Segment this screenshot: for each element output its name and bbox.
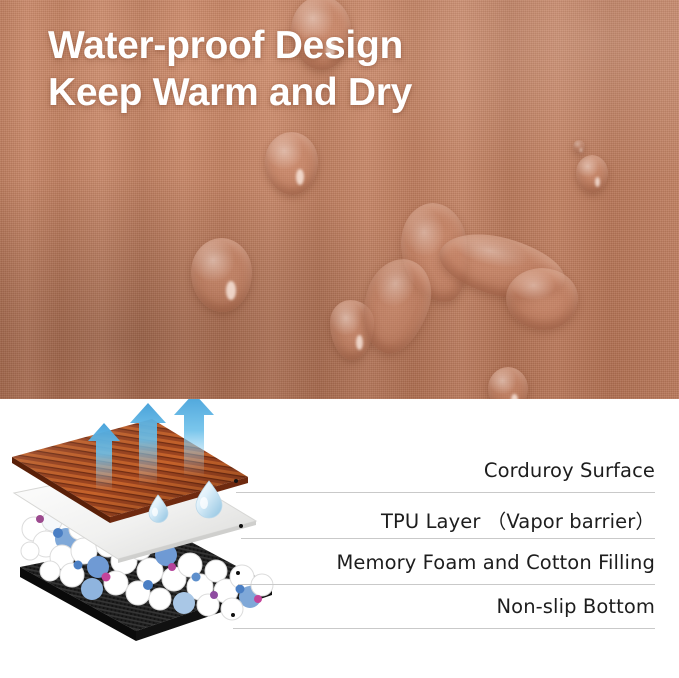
layer-callouts: Corduroy Surface TPU Layer （Vapor barrie… (0, 399, 679, 678)
water-bead (573, 140, 585, 154)
layer-construction-panel: Corduroy Surface TPU Layer （Vapor barrie… (0, 399, 679, 678)
hero-headline: Water-proof Design Keep Warm and Dry (48, 22, 412, 116)
leader-line-corduroy (236, 492, 655, 493)
merged-water-droplet (506, 268, 578, 330)
waterproof-hero-panel: Water-proof Design Keep Warm and Dry (0, 0, 679, 399)
layer-label-bottom: Non-slip Bottom (496, 595, 655, 618)
leader-line-foam (238, 584, 655, 585)
water-bead (265, 132, 318, 195)
layer-label-corduroy: Corduroy Surface (484, 459, 655, 482)
layer-label-foam: Memory Foam and Cotton Filling (336, 551, 655, 574)
leader-line-tpu (241, 538, 655, 539)
headline-line-1: Water-proof Design (48, 22, 412, 69)
leader-line-bottom (233, 628, 655, 629)
headline-line-2: Keep Warm and Dry (48, 69, 412, 116)
layer-label-tpu: TPU Layer （Vapor barrier） (381, 505, 655, 534)
water-bead (191, 238, 252, 312)
water-bead (576, 155, 608, 193)
product-infographic: Water-proof Design Keep Warm and Dry (0, 0, 679, 678)
